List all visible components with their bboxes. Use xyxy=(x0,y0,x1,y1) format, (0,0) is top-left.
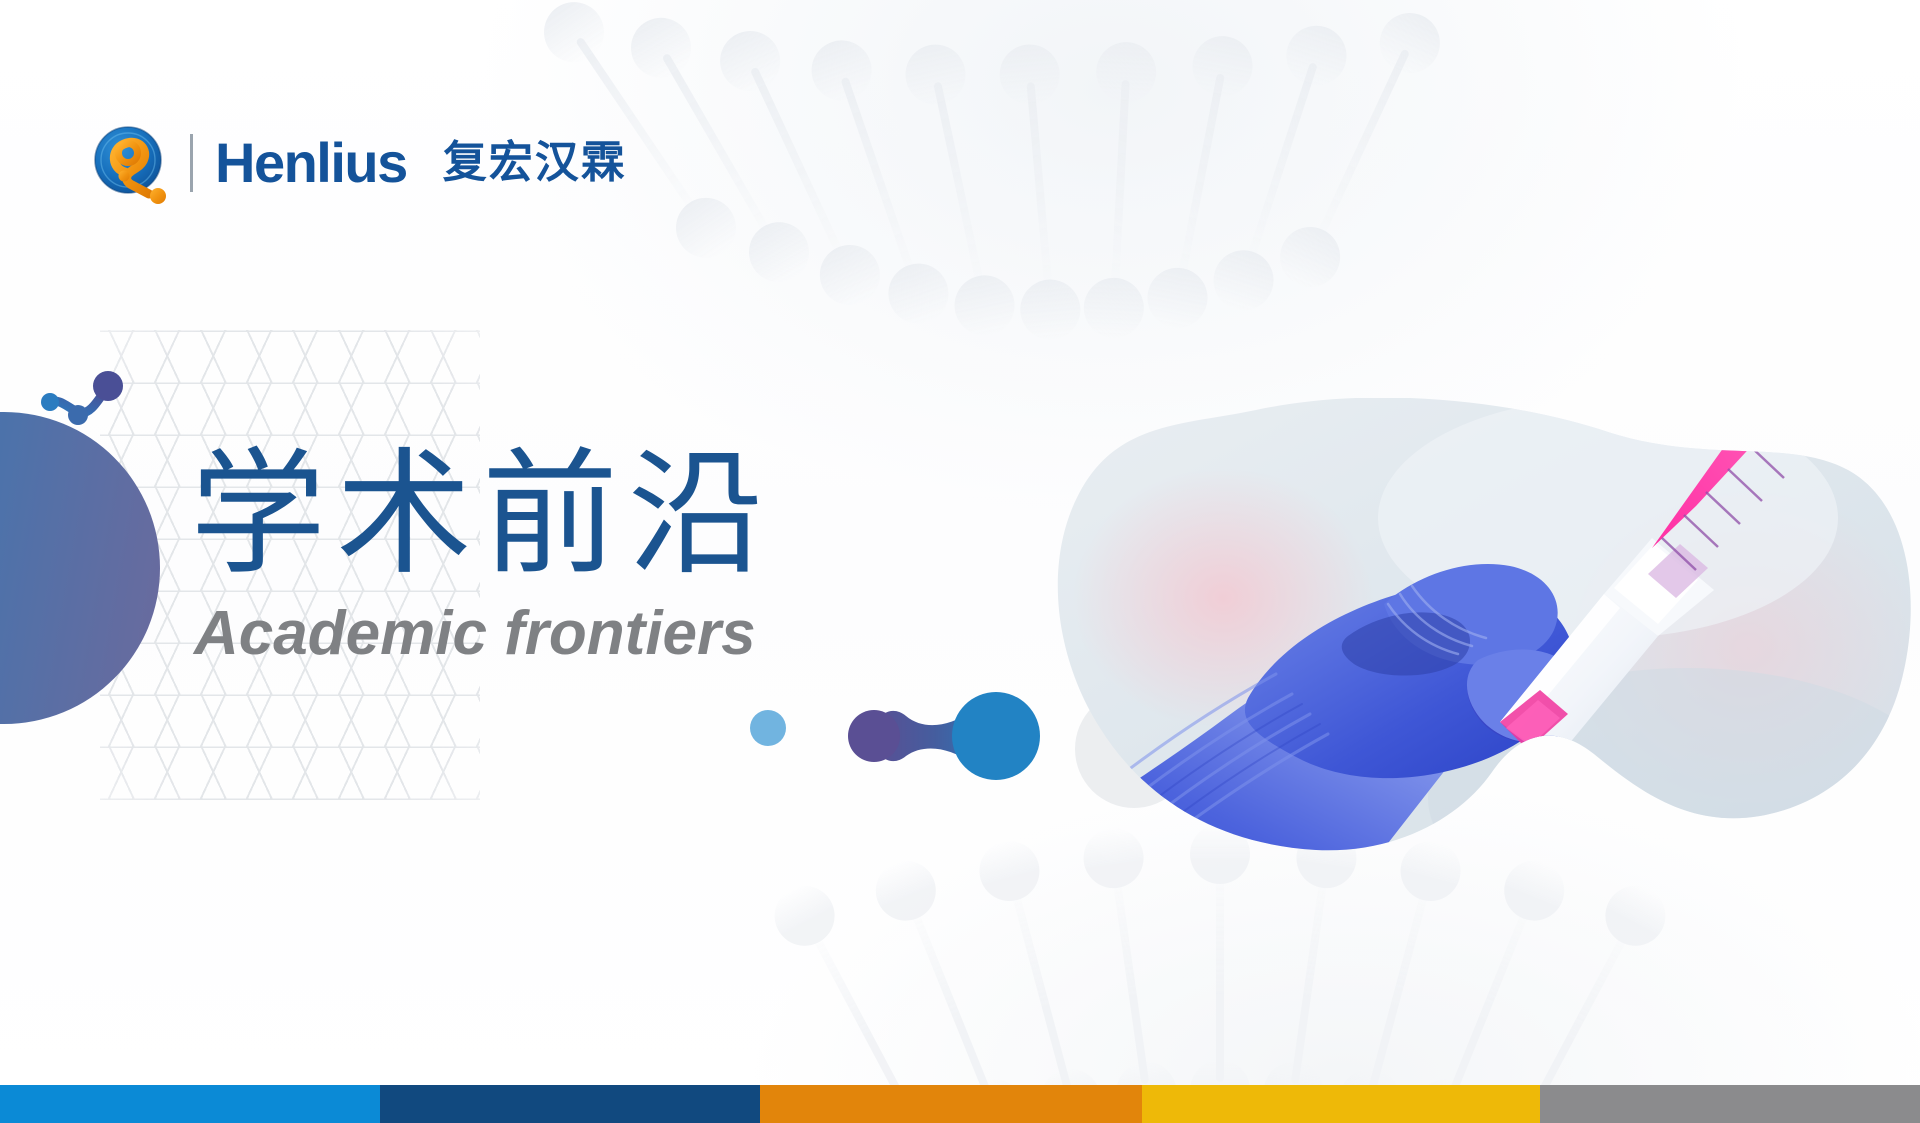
lab-photo-blob xyxy=(1048,398,1916,856)
footer-segment-gold xyxy=(1142,1085,1539,1123)
brand-name-cn: 复宏汉霖 xyxy=(443,141,627,185)
page-subtitle-en: Academic frontiers xyxy=(194,603,774,665)
accent-dot xyxy=(750,710,786,746)
brand-name-en: Henlius xyxy=(215,135,407,191)
title-block: 学术前沿 Academic frontiers xyxy=(190,442,774,665)
molecule-icon-small xyxy=(38,368,130,440)
footer-segment-light-blue xyxy=(0,1085,380,1123)
molecule-icon-large xyxy=(840,686,1044,786)
logo-divider xyxy=(190,134,193,192)
page-title-cn: 学术前沿 xyxy=(190,442,774,589)
footer-color-bar xyxy=(0,1085,1920,1123)
footer-segment-orange xyxy=(760,1085,1142,1123)
footer-segment-dark-blue xyxy=(380,1085,760,1123)
slide-root: Henlius 复宏汉霖 学术前沿 Academic frontiers xyxy=(0,0,1920,1123)
henlius-molecule-logo-icon xyxy=(92,124,172,204)
brand-logo[interactable]: Henlius 复宏汉霖 xyxy=(92,124,627,202)
footer-segment-grey xyxy=(1540,1085,1920,1123)
